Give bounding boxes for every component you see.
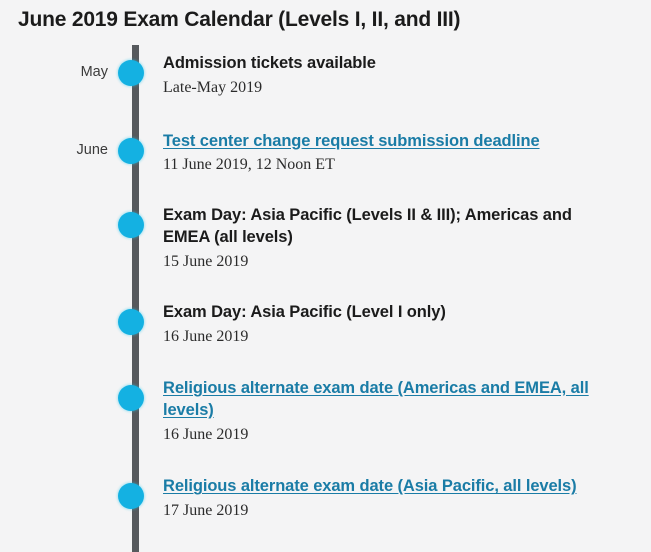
timeline-entry: Exam Day: Asia Pacific (Level I only) 16… (0, 302, 651, 348)
timeline-entry-date: 17 June 2019 (163, 501, 621, 522)
timeline-month-label (0, 302, 108, 314)
timeline-dot-column (108, 378, 163, 379)
timeline-entry-date: 16 June 2019 (163, 327, 621, 348)
timeline-entry-body: Admission tickets available Late-May 201… (163, 53, 651, 99)
timeline-entry-date: 11 June 2019, 12 Noon ET (163, 155, 621, 176)
timeline-dot-column (108, 205, 163, 206)
timeline-dot-column (108, 476, 163, 477)
timeline-entry-title-link[interactable]: Religious alternate exam date (Americas … (163, 379, 589, 419)
timeline-month-label (0, 378, 108, 390)
timeline-entry-title-link[interactable]: Religious alternate exam date (Asia Paci… (163, 477, 577, 495)
timeline-entry-body: Exam Day: Asia Pacific (Level I only) 16… (163, 302, 651, 348)
exam-calendar-timeline: May Admission tickets available Late-May… (0, 45, 651, 522)
timeline-entry: May Admission tickets available Late-May… (0, 53, 651, 99)
timeline-dot-icon (118, 309, 144, 335)
timeline-dot-icon (118, 138, 144, 164)
timeline-entry-date: 16 June 2019 (163, 425, 621, 446)
timeline-entry-body: Religious alternate exam date (Americas … (163, 378, 651, 445)
timeline-entry-title: Exam Day: Asia Pacific (Levels II & III)… (163, 205, 621, 249)
timeline-dot-column (108, 131, 163, 132)
timeline-entry-body: Test center change request submission de… (163, 131, 651, 177)
timeline-entry-title: Admission tickets available (163, 53, 621, 75)
timeline-dot-icon (118, 483, 144, 509)
timeline-entry-date: 15 June 2019 (163, 252, 621, 273)
timeline-entry-title-link[interactable]: Test center change request submission de… (163, 132, 540, 150)
timeline-month-label (0, 205, 108, 217)
timeline-month-label: June (0, 131, 108, 158)
timeline-entry-body: Religious alternate exam date (Asia Paci… (163, 476, 651, 522)
timeline-dot-icon (118, 60, 144, 86)
timeline-entry: Religious alternate exam date (Americas … (0, 378, 651, 445)
timeline-dot-icon (118, 385, 144, 411)
timeline-entry-body: Exam Day: Asia Pacific (Levels II & III)… (163, 205, 651, 272)
timeline-entry-date: Late-May 2019 (163, 78, 621, 99)
page-title: June 2019 Exam Calendar (Levels I, II, a… (18, 8, 460, 32)
timeline-month-label: May (0, 53, 108, 80)
timeline-dot-column (108, 53, 163, 54)
timeline-entry: Exam Day: Asia Pacific (Levels II & III)… (0, 205, 651, 272)
timeline-entry: Religious alternate exam date (Asia Paci… (0, 476, 651, 522)
timeline-month-label (0, 476, 108, 488)
timeline-dot-column (108, 302, 163, 303)
timeline-entry: June Test center change request submissi… (0, 131, 651, 177)
timeline-entry-title: Exam Day: Asia Pacific (Level I only) (163, 302, 621, 324)
timeline-dot-icon (118, 212, 144, 238)
